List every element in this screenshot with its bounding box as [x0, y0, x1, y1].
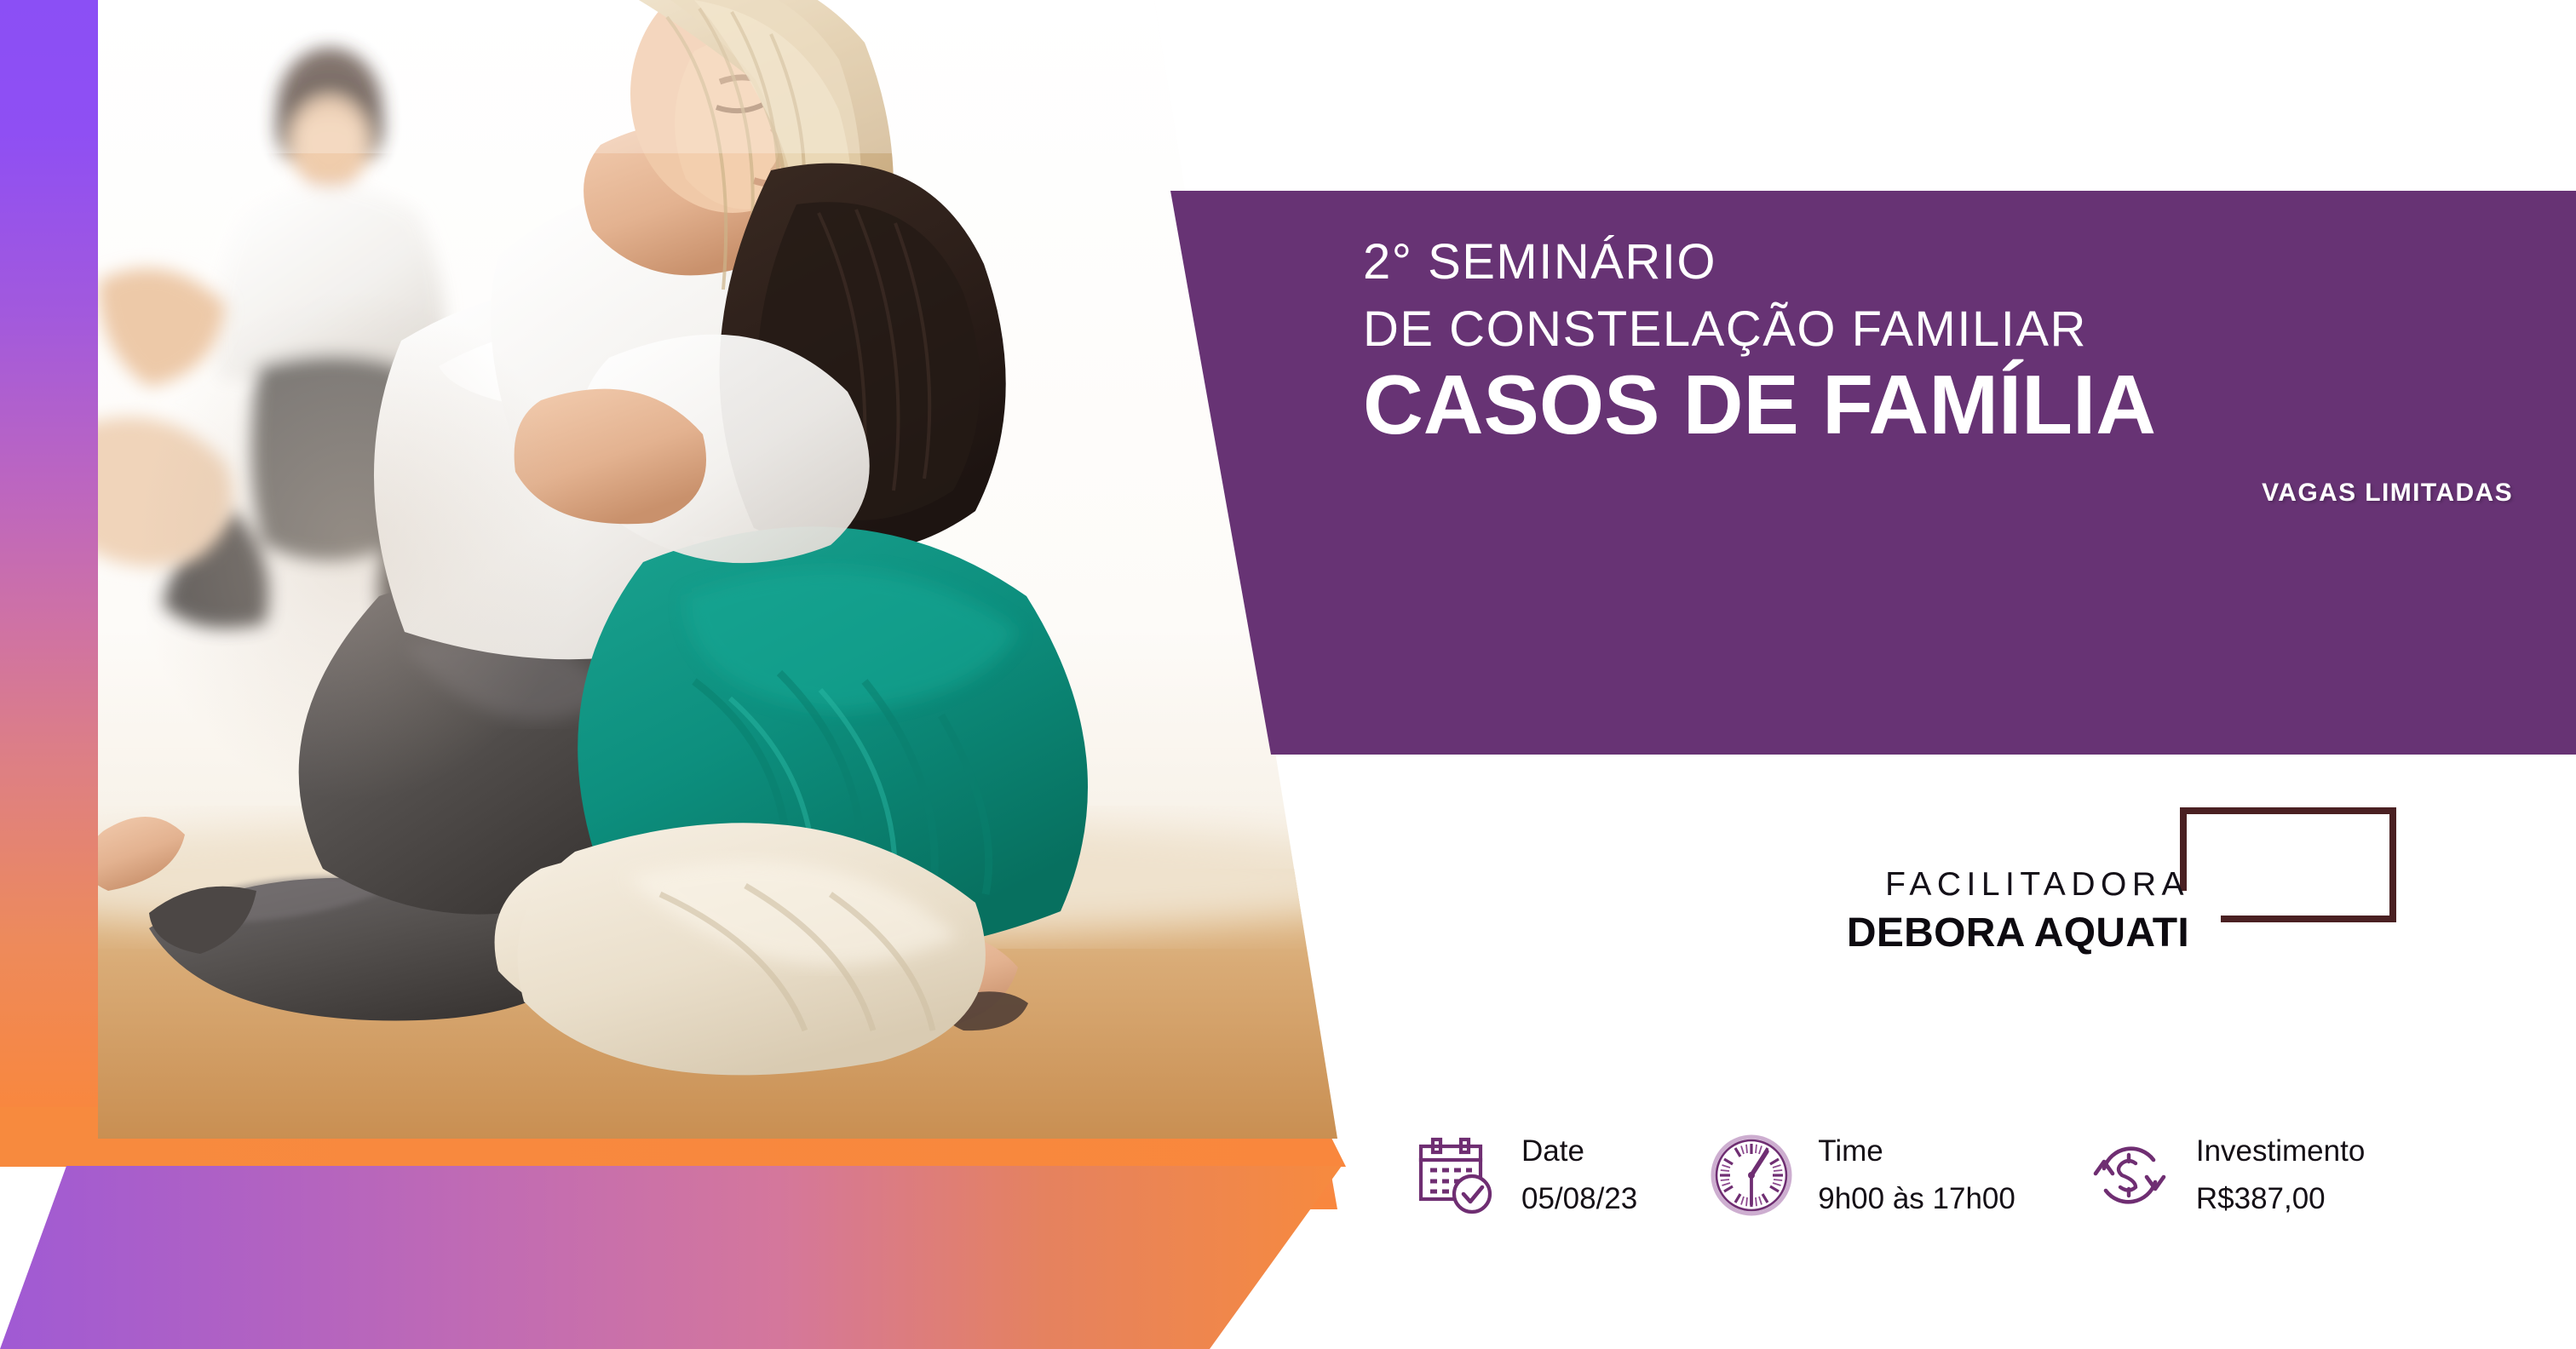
facilitator-role-label: FACILITADORA — [1831, 867, 2189, 904]
investment-text-group: Investimento R$387,00 — [2196, 1133, 2365, 1218]
headline-line-1: 2° SEMINÁRIO — [1363, 235, 2521, 290]
clock-icon — [1709, 1133, 1794, 1218]
info-item-time: Time 9h00 às 17h00 — [1709, 1133, 2015, 1218]
bracket-frame-icon — [2180, 807, 2396, 922]
info-item-date: Date 05/08/23 — [1414, 1133, 1637, 1218]
limited-spots-tagline: VAGAS LIMITADAS — [1363, 480, 2521, 506]
bottom-gradient-band — [0, 1166, 1342, 1349]
time-label: Time — [1818, 1133, 2015, 1170]
investment-value: R$387,00 — [2196, 1180, 2365, 1218]
money-refresh-icon — [2087, 1133, 2172, 1218]
facilitator-name: DEBORA AQUATI — [1831, 910, 2189, 956]
poster-canvas: 2° SEMINÁRIO DE CONSTELAÇÃO FAMILIAR CAS… — [0, 0, 2576, 1349]
date-text-group: Date 05/08/23 — [1521, 1133, 1637, 1218]
headline-line-3-title: CASOS DE FAMÍLIA — [1363, 363, 2521, 448]
date-value: 05/08/23 — [1521, 1180, 1637, 1218]
date-label: Date — [1521, 1133, 1637, 1170]
session-photo — [98, 0, 1337, 1139]
headline-text-group: 2° SEMINÁRIO DE CONSTELAÇÃO FAMILIAR CAS… — [1363, 235, 2521, 506]
calendar-check-icon — [1414, 1133, 1499, 1218]
facilitator-block: FACILITADORA DEBORA AQUATI — [1831, 766, 2479, 1022]
headline-panel: 2° SEMINÁRIO DE CONSTELAÇÃO FAMILIAR CAS… — [1159, 191, 2576, 755]
info-item-investment: Investimento R$387,00 — [2087, 1133, 2365, 1218]
left-gradient-strip — [0, 0, 98, 1117]
time-text-group: Time 9h00 às 17h00 — [1818, 1133, 2015, 1218]
investment-label: Investimento — [2196, 1133, 2365, 1170]
headline-line-2: DE CONSTELAÇÃO FAMILIAR — [1363, 302, 2521, 358]
facilitator-text-group: FACILITADORA DEBORA AQUATI — [1831, 867, 2189, 956]
event-info-row: Date 05/08/23 — [1414, 1133, 2365, 1218]
time-value: 9h00 às 17h00 — [1818, 1180, 2015, 1218]
